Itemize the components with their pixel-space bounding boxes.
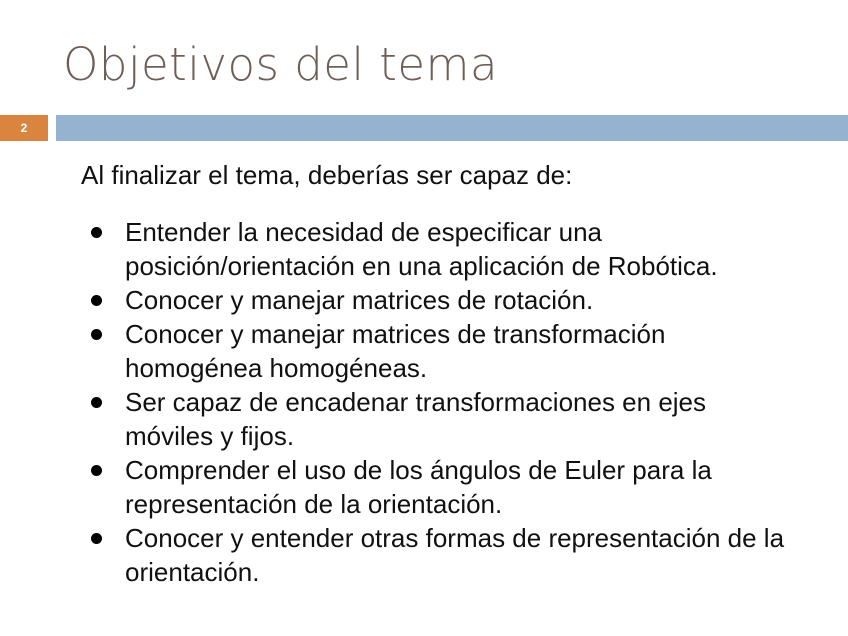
bullet-dot-icon	[91, 465, 102, 476]
accent-bar	[56, 115, 848, 141]
accent-band: 2	[0, 115, 848, 141]
page-title: Objetivos del tema	[63, 37, 803, 93]
bullet-dot-icon	[91, 227, 102, 238]
list-item: Ser capaz de encadenar transformaciones …	[81, 385, 797, 453]
list-item: Entender la necesidad de especificar una…	[81, 215, 797, 283]
list-item-text: Ser capaz de encadenar transformaciones …	[125, 385, 797, 453]
bullet-dot-icon	[91, 329, 102, 340]
list-item: Conocer y manejar matrices de rotación.	[81, 283, 797, 317]
bullet-dot-icon	[91, 295, 102, 306]
objectives-list: Entender la necesidad de especificar una…	[81, 215, 797, 589]
list-item-text: Entender la necesidad de especificar una…	[125, 215, 797, 283]
list-item: Comprender el uso de los ángulos de Eule…	[81, 453, 797, 521]
slide-body: Al finalizar el tema, deberías ser capaz…	[0, 141, 848, 636]
slide-number-text: 2	[21, 121, 28, 135]
bullet-dot-icon	[91, 533, 102, 544]
slide-number-badge: 2	[0, 115, 48, 141]
list-item: Conocer y manejar matrices de transforma…	[81, 317, 797, 385]
bullet-dot-icon	[91, 397, 102, 408]
list-item-text: Conocer y entender otras formas de repre…	[125, 521, 797, 589]
list-item-text: Comprender el uso de los ángulos de Eule…	[125, 453, 797, 521]
list-item: Conocer y entender otras formas de repre…	[81, 521, 797, 589]
intro-text: Al finalizar el tema, deberías ser capaz…	[81, 158, 791, 192]
presentation-slide: Objetivos del tema 2 Al finalizar el tem…	[0, 0, 848, 636]
list-item-text: Conocer y manejar matrices de rotación.	[125, 283, 797, 317]
list-item-text: Conocer y manejar matrices de transforma…	[125, 317, 797, 385]
